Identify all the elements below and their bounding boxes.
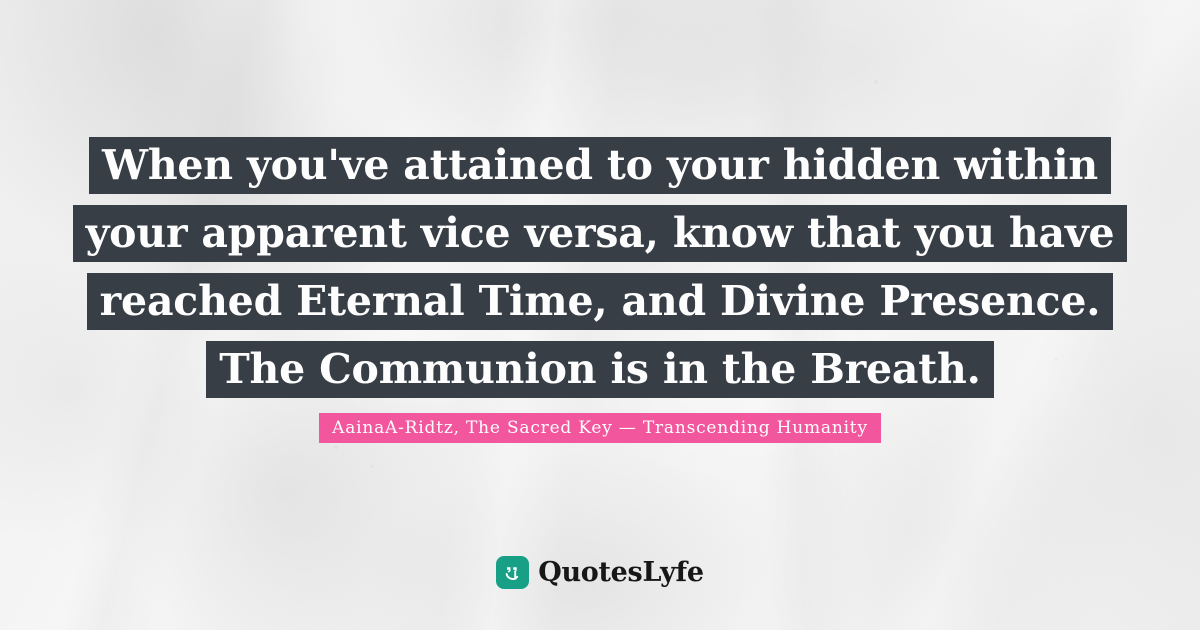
attribution-block: AainaA-Ridtz, The Sacred Key — Transcend… <box>0 413 1200 443</box>
quote-line: reached Eternal Time, and Divine Presenc… <box>87 273 1114 330</box>
quote-line: The Communion is in the Breath. <box>206 341 993 398</box>
quote-line: your apparent vice versa, know that you … <box>73 205 1128 262</box>
brand-logo[interactable]: QuotesLyfe <box>0 556 1200 589</box>
brand-name: QuotesLyfe <box>538 556 704 589</box>
quote-text-block: When you've attained to your hidden with… <box>0 137 1200 398</box>
quote-card: When you've attained to your hidden with… <box>0 0 1200 630</box>
quote-smiley-icon <box>496 556 529 589</box>
quote-line: When you've attained to your hidden with… <box>89 137 1111 194</box>
attribution-text: AainaA-Ridtz, The Sacred Key — Transcend… <box>319 413 881 443</box>
